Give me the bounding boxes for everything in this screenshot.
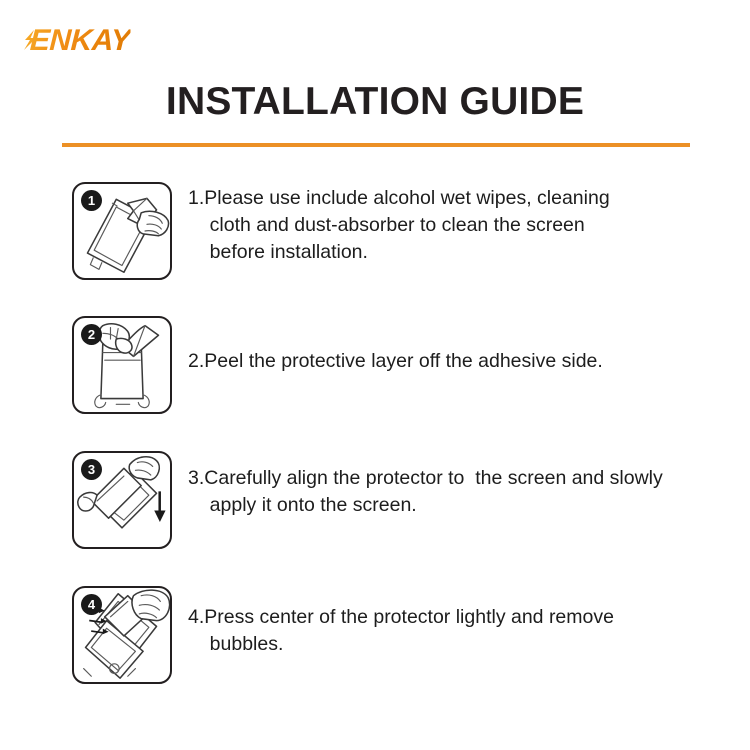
step-icon-box: 2: [72, 316, 172, 414]
brand-name: ENKAY: [29, 26, 131, 56]
brand-logo: ENKAY: [30, 24, 130, 58]
step-item: 3 3.Carefully align the protector to the…: [0, 451, 750, 586]
installation-guide-page: ENKAY INSTALLATION GUIDE: [0, 0, 750, 750]
step-badge: 3: [81, 459, 102, 480]
step-icon-box: 3: [72, 451, 172, 549]
step-badge: 4: [81, 594, 102, 615]
step-icon-box: 4: [72, 586, 172, 684]
steps-list: 1 1.Please use include alcohol wet wipes…: [0, 182, 750, 706]
title-divider: [62, 143, 690, 147]
step-item: 4 4.Press center of the protector lightl…: [0, 586, 750, 706]
down-arrow-icon: [154, 491, 165, 522]
step-item: 1 1.Please use include alcohol wet wipes…: [0, 182, 750, 316]
step-item: 2 2.Peel the protective layer off the ad…: [0, 316, 750, 451]
page-title: INSTALLATION GUIDE: [0, 80, 750, 124]
step-text: 1.Please use include alcohol wet wipes, …: [188, 182, 688, 266]
step-text: 3.Carefully align the protector to the s…: [188, 451, 708, 519]
step-text: 4.Press center of the protector lightly …: [188, 586, 698, 658]
step-badge: 1: [81, 190, 102, 211]
step-text: 2.Peel the protective layer off the adhe…: [188, 316, 688, 375]
step-badge: 2: [81, 324, 102, 345]
step-icon-box: 1: [72, 182, 172, 280]
